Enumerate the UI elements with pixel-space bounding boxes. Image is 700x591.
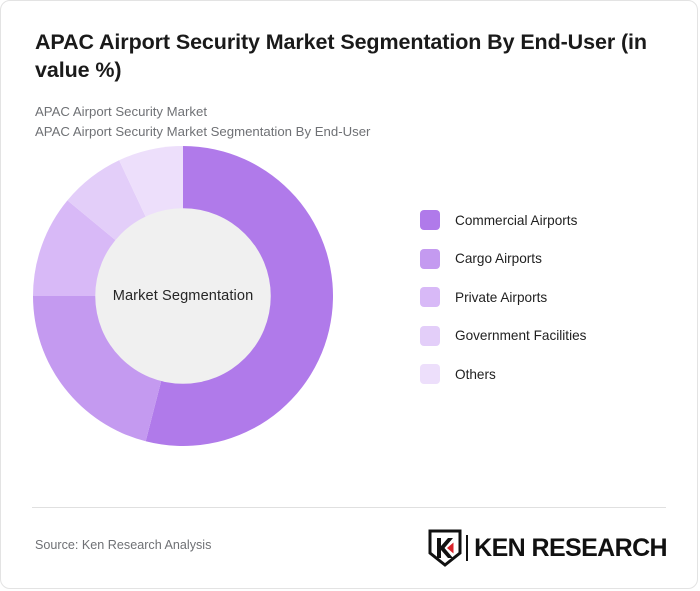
donut-svg [33,146,333,446]
logo-text-ken: KEN [474,534,525,562]
ken-research-shield-icon [428,529,462,567]
donut-center-circle [95,208,271,384]
subtitle-line-2: APAC Airport Security Market Segmentatio… [35,122,663,142]
legend-item[interactable]: Commercial Airports [420,201,670,240]
legend-item[interactable]: Cargo Airports [420,239,670,278]
legend-item-label: Cargo Airports [455,251,542,266]
chart-footer: Source: Ken Research Analysis KEN RESEAR… [1,520,697,580]
legend-swatch-icon [420,249,440,269]
legend-swatch-icon [420,326,440,346]
legend-item[interactable]: Others [420,355,670,394]
donut-chart: Market Segmentation [33,146,333,446]
legend-swatch-icon [420,210,440,230]
page-title: APAC Airport Security Market Segmentatio… [35,29,655,84]
legend-swatch-icon [420,287,440,307]
legend-item-label: Private Airports [455,290,547,305]
legend-item[interactable]: Government Facilities [420,316,670,355]
chart-body: Market Segmentation Commercial AirportsC… [1,143,697,493]
source-text: Source: Ken Research Analysis [35,538,211,552]
legend-item-label: Others [455,367,496,382]
ken-research-logo: KEN RESEARCH [428,526,667,570]
footer-divider [32,507,666,508]
chart-card: APAC Airport Security Market Segmentatio… [0,0,698,589]
legend-item-label: Government Facilities [455,328,586,343]
legend-item[interactable]: Private Airports [420,278,670,317]
chart-header: APAC Airport Security Market Segmentatio… [1,1,697,143]
legend-item-label: Commercial Airports [455,213,577,228]
logo-text-research: RESEARCH [532,534,668,562]
subtitle-block: APAC Airport Security Market APAC Airpor… [35,102,663,143]
chart-legend: Commercial AirportsCargo AirportsPrivate… [420,201,670,394]
legend-swatch-icon [420,364,440,384]
subtitle-line-1: APAC Airport Security Market [35,102,663,122]
logo-divider [466,535,468,561]
logo-wordmark: KEN RESEARCH [474,534,667,563]
